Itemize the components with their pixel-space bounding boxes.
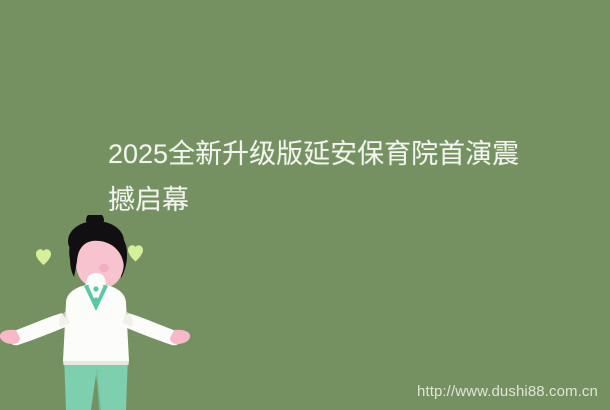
standing-person-illustration: [0, 215, 210, 410]
watermark-url: http://www.dushi88.com.cn: [417, 383, 598, 401]
heart-left-icon: [36, 249, 51, 265]
sweater-body-shape: [59, 285, 133, 365]
heart-right-icon: [128, 245, 143, 261]
page-title: 2025全新升级版延安保育院首演震撼启幕: [108, 131, 538, 223]
promo-banner: 2025全新升级版延安保育院首演震撼启幕: [0, 0, 610, 410]
